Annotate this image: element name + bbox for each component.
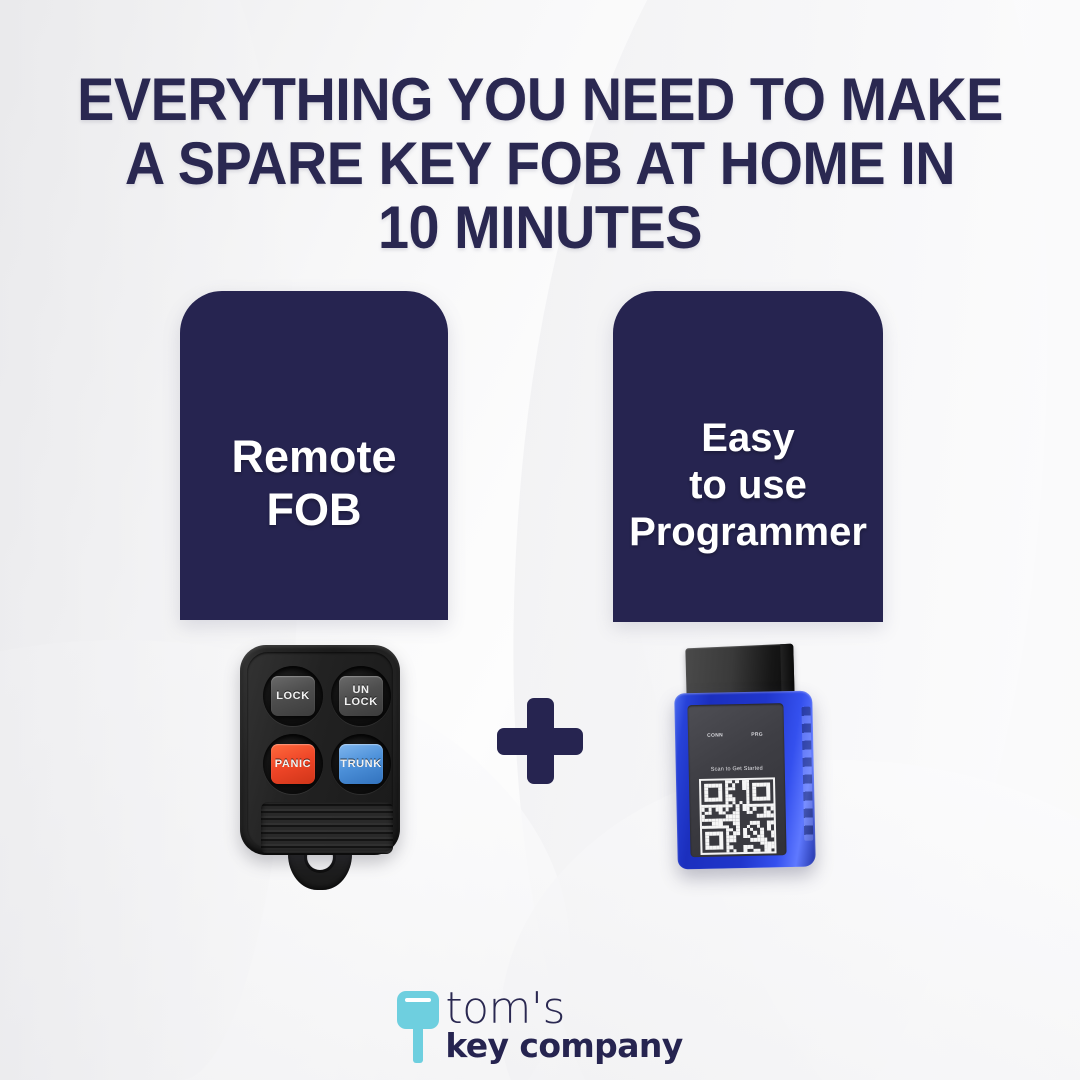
card-remote-fob: Remote FOB [180,291,448,620]
key-fob-body: LOCK UN LOCK PANIC TRUNK [240,645,400,855]
card-remote-fob-label: Remote FOB [231,431,396,540]
logo-text-toms: tom's [445,987,682,1031]
programmer-led-prg-label: PRG [740,731,774,738]
key-fob-button-trunk[interactable]: TRUNK [339,744,383,784]
qr-code-icon [699,777,777,855]
programmer-led-row: CONN PRG [694,731,779,761]
card-right-line-2: to use [629,462,867,509]
poster-canvas: EVERYTHING YOU NEED TO MAKE A SPARE KEY … [0,0,1080,1080]
plus-icon-vertical-bar [527,698,554,784]
brand-logo: tom's key company [0,985,1080,1065]
key-fob-button-panic[interactable]: PANIC [271,744,315,784]
programmer-led-conn-label: CONN [698,732,732,739]
programmer-led-conn: CONN [698,732,732,739]
key-fob-button-lock[interactable]: LOCK [271,676,315,716]
key-icon-slot [405,998,431,1002]
key-fob-panic-well: PANIC [263,734,323,794]
key-fob-button-unlock-label-1: UN [352,684,369,696]
key-fob-ribbed-grip [261,802,393,854]
key-icon-head [397,991,439,1029]
key-icon-stem [413,1027,423,1063]
key-fob-button-trunk-label: TRUNK [340,758,382,770]
programmer-image: CONN PRG Scan to Get Started [676,646,826,868]
card-left-line-1: Remote [231,431,396,484]
headline-line-3: 10 MINUTES [38,196,1042,260]
key-fob-button-panic-label: PANIC [275,758,311,770]
programmer-scan-text: Scan to Get Started [689,765,785,773]
key-fob-faceplate: LOCK UN LOCK PANIC TRUNK [247,652,393,848]
key-fob-lock-well: LOCK [263,666,323,726]
page-title: EVERYTHING YOU NEED TO MAKE A SPARE KEY … [38,68,1042,260]
key-fob-trunk-well: TRUNK [331,734,391,794]
plus-icon [497,698,583,784]
qr-code-modules [701,779,774,852]
programmer-faceplate: CONN PRG Scan to Get Started [687,703,786,857]
key-fob-unlock-well: UN LOCK [331,666,391,726]
key-fob-button-unlock[interactable]: UN LOCK [339,676,383,716]
key-fob-button-unlock-label-2: LOCK [344,696,378,708]
card-easy-programmer-label: Easy to use Programmer [629,415,867,559]
headline-line-2: A SPARE KEY FOB AT HOME IN [38,132,1042,196]
programmer-housing: CONN PRG Scan to Get Started [674,691,816,870]
card-right-line-3: Programmer [629,509,867,556]
card-right-line-1: Easy [629,415,867,462]
key-fob-image: LOCK UN LOCK PANIC TRUNK [240,645,400,887]
headline-line-1: EVERYTHING YOU NEED TO MAKE [38,68,1042,132]
logo-text-key-company: key company [445,1029,682,1062]
key-fob-button-lock-label: LOCK [276,690,310,702]
key-icon [397,991,439,1063]
programmer-led-prg: PRG [740,731,774,738]
card-left-line-2: FOB [231,484,396,537]
card-easy-programmer: Easy to use Programmer [613,291,883,622]
